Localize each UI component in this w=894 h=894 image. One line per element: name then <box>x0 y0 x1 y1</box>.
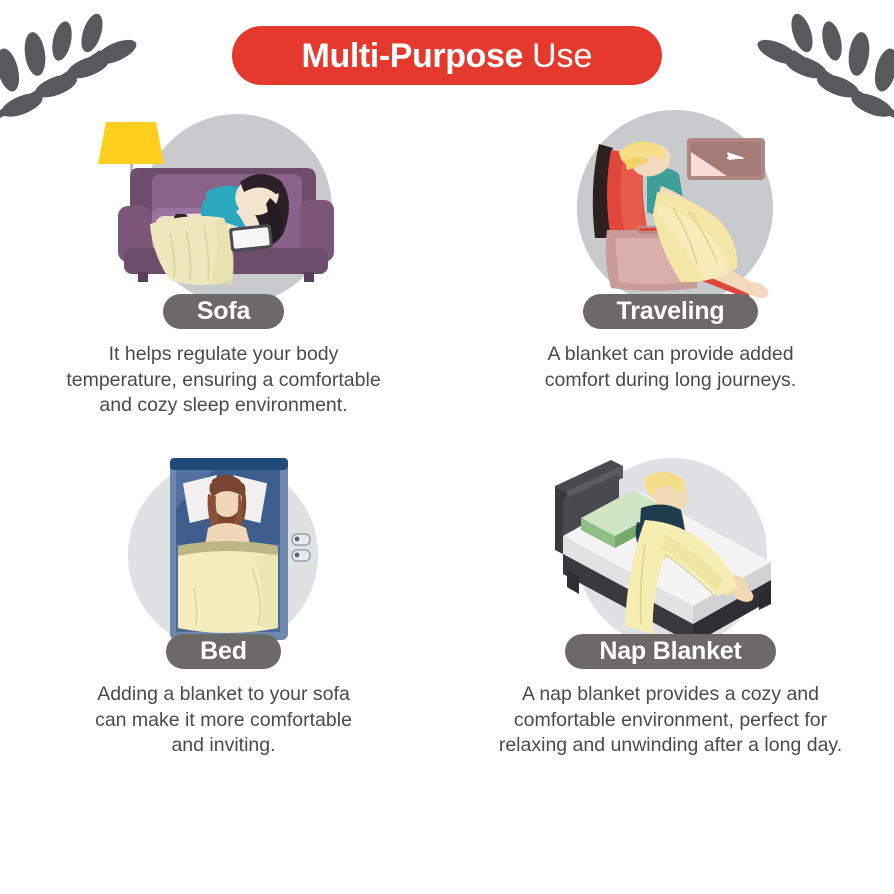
sofa-scene-svg <box>94 108 354 308</box>
card-label-nap-blanket: Nap Blanket <box>565 634 775 669</box>
card-caption-traveling: A blanket can provide added comfort duri… <box>506 342 836 393</box>
card-label-text: Bed <box>200 637 247 666</box>
feature-card-sofa: Sofa It helps regulate your body tempera… <box>0 108 447 448</box>
card-label-text: Traveling <box>617 297 725 326</box>
card-label-sofa: Sofa <box>163 294 284 329</box>
card-label-text: Nap Blanket <box>599 637 741 666</box>
nap-blanket-illustration <box>541 448 801 648</box>
traveling-illustration <box>541 108 801 308</box>
card-caption-bed: Adding a blanket to your sofa can make i… <box>54 682 394 759</box>
feature-grid: Sofa It helps regulate your body tempera… <box>0 108 894 788</box>
leaf-branch-icon <box>752 8 894 123</box>
feature-card-nap-blanket: Nap Blanket A nap blanket provides a coz… <box>447 448 894 788</box>
card-caption-nap-blanket: A nap blanket provides a cozy and comfor… <box>461 682 881 759</box>
sofa-illustration <box>94 108 354 308</box>
page-title-banner: Multi-Purpose Use <box>232 26 662 85</box>
card-label-text: Sofa <box>197 297 250 326</box>
leaf-branch-icon <box>0 8 142 123</box>
card-label-traveling: Traveling <box>583 294 759 329</box>
traveling-scene-svg <box>541 108 801 308</box>
card-caption-sofa: It helps regulate your body temperature,… <box>24 342 424 419</box>
page-title-bold: Multi-Purpose <box>302 39 523 73</box>
card-label-bed: Bed <box>166 634 281 669</box>
bed-illustration <box>94 448 354 648</box>
bed-scene-svg <box>94 448 354 648</box>
feature-card-traveling: Traveling A blanket can provide added co… <box>447 108 894 448</box>
nap-bed-scene-svg <box>541 448 801 648</box>
page-title-light: Use <box>532 39 592 73</box>
feature-card-bed: Bed Adding a blanket to your sofa can ma… <box>0 448 447 788</box>
